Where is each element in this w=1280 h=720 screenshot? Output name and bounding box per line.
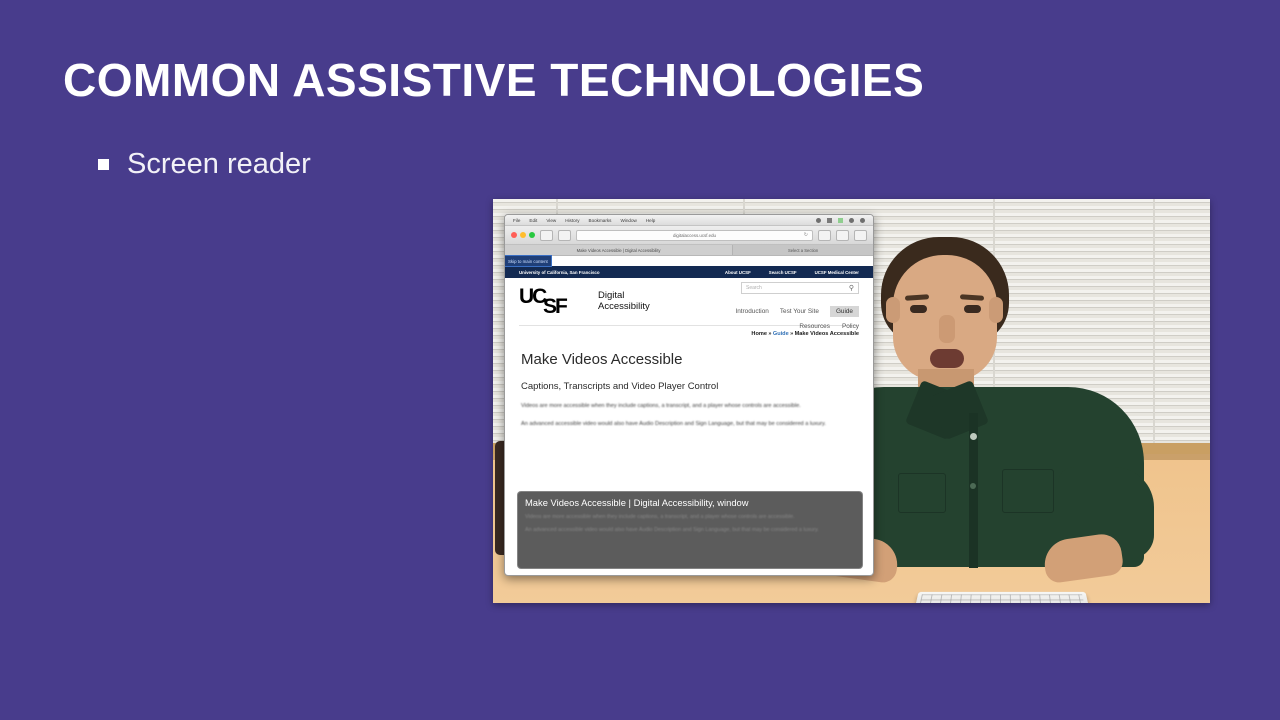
back-icon[interactable] xyxy=(540,230,553,241)
gear-icon[interactable] xyxy=(818,230,831,241)
site-name-line2: Accessibility xyxy=(598,302,650,313)
content-paragraph-1: Videos are more accessible when they inc… xyxy=(521,402,851,412)
ear-right xyxy=(989,297,1003,323)
site-nav-row-1[interactable]: Introduction Test Your Site Guide xyxy=(735,306,859,317)
nav-item-guide[interactable]: Guide xyxy=(830,306,859,317)
shirt-button xyxy=(970,483,976,489)
search-placeholder: Search xyxy=(746,285,762,291)
window-controls[interactable] xyxy=(511,232,535,238)
breadcrumb-guide[interactable]: Guide xyxy=(773,331,789,337)
bullet-item-label: Screen reader xyxy=(127,148,311,181)
close-icon[interactable] xyxy=(511,232,517,238)
site-header: Search ⚲ UC SF Digital Accessibility Int… xyxy=(505,278,873,319)
minimize-icon[interactable] xyxy=(520,232,526,238)
keyboard xyxy=(913,592,1090,603)
nav-item-resources[interactable]: Resources xyxy=(799,323,830,330)
breadcrumb-separator: » xyxy=(768,331,771,337)
voiceover-ghost-text-1: Videos are more accessible when they inc… xyxy=(525,512,855,522)
clock-icon[interactable] xyxy=(849,218,854,223)
menu-item-window[interactable]: Window xyxy=(620,218,636,223)
menu-item-file[interactable]: File xyxy=(513,218,520,223)
shirt-pocket-left xyxy=(898,473,946,513)
nose xyxy=(939,315,955,343)
tabs-icon[interactable] xyxy=(854,230,867,241)
nav-item-introduction[interactable]: Introduction xyxy=(735,308,768,315)
voiceover-ghost-text-2: An advanced accessible video would also … xyxy=(525,525,855,535)
eye-left xyxy=(910,305,927,313)
menu-item-bookmarks[interactable]: Bookmarks xyxy=(589,218,612,223)
browser-window[interactable]: File Edit View History Bookmarks Window … xyxy=(504,214,874,576)
ucsf-link-about[interactable]: About UCSF xyxy=(725,270,751,275)
square-bullet-icon xyxy=(98,159,109,170)
browser-tabbar[interactable]: Make Videos Accessible | Digital Accessi… xyxy=(505,245,873,256)
voiceover-caption-panel: Make Videos Accessible | Digital Accessi… xyxy=(517,491,863,569)
page-content: Make Videos Accessible Captions, Transcr… xyxy=(505,337,873,429)
ucsf-link-medical-center[interactable]: UCSF Medical Center xyxy=(815,270,859,275)
nav-item-test-your-site[interactable]: Test Your Site xyxy=(780,308,819,315)
breadcrumb-current: Make Videos Accessible xyxy=(795,331,859,337)
wifi-icon[interactable] xyxy=(827,218,832,223)
browser-toolbar[interactable]: digitalaccess.ucsf.edu ↻ xyxy=(505,226,873,245)
menu-item-edit[interactable]: Edit xyxy=(529,218,537,223)
site-name: Digital Accessibility xyxy=(598,288,650,312)
tab-make-videos-accessible[interactable]: Make Videos Accessible | Digital Accessi… xyxy=(505,245,733,255)
menu-item-view[interactable]: View xyxy=(546,218,556,223)
skip-link-row: Skip to main content xyxy=(505,256,873,266)
browser-menubar[interactable]: File Edit View History Bookmarks Window … xyxy=(505,215,873,226)
url-text: digitalaccess.ucsf.edu xyxy=(673,233,716,238)
battery-icon[interactable] xyxy=(838,218,843,223)
skip-to-main-content-link[interactable]: Skip to main content xyxy=(505,256,551,266)
shirt-pocket-right xyxy=(1002,469,1054,513)
nav-item-policy[interactable]: Policy xyxy=(842,323,859,330)
breadcrumb-separator: » xyxy=(790,331,793,337)
ucsf-logo-bottom: SF xyxy=(543,298,589,315)
maximize-icon[interactable] xyxy=(529,232,535,238)
ucsf-brand-link[interactable]: University of California, San Francisco xyxy=(519,270,707,275)
blind-cord xyxy=(1153,199,1155,454)
shirt-button xyxy=(970,433,977,440)
ucsf-global-nav[interactable]: University of California, San Francisco … xyxy=(505,266,873,278)
menubar-status-icons[interactable] xyxy=(816,218,865,223)
reload-icon[interactable]: ↻ xyxy=(804,232,808,238)
search-input[interactable]: Search ⚲ xyxy=(741,282,859,294)
mouth xyxy=(930,349,964,368)
slide-root: COMMON ASSISTIVE TECHNOLOGIES Screen rea… xyxy=(0,0,1280,720)
menu-item-history[interactable]: History xyxy=(565,218,579,223)
address-bar[interactable]: digitalaccess.ucsf.edu ↻ xyxy=(576,230,813,241)
page-title: COMMON ASSISTIVE TECHNOLOGIES xyxy=(63,53,924,107)
spotlight-icon[interactable] xyxy=(860,218,865,223)
site-nav-row-2[interactable]: Resources Policy xyxy=(799,323,859,330)
bullet-list-item: Screen reader xyxy=(98,148,311,181)
content-paragraph-2: An advanced accessible video would also … xyxy=(521,420,851,430)
breadcrumb-home[interactable]: Home xyxy=(751,331,767,337)
content-heading: Make Videos Accessible xyxy=(521,351,857,368)
search-icon[interactable]: ⚲ xyxy=(849,284,854,292)
video-player[interactable]: File Edit View History Bookmarks Window … xyxy=(493,199,1210,603)
menu-item-help[interactable]: Help xyxy=(646,218,655,223)
tab-select-a-section[interactable]: Select a Section xyxy=(733,245,873,255)
content-subheading: Captions, Transcripts and Video Player C… xyxy=(521,381,811,394)
ucsf-link-search[interactable]: Search UCSF xyxy=(769,270,797,275)
eye-right xyxy=(964,305,981,313)
share-icon[interactable] xyxy=(836,230,849,241)
ear-left xyxy=(886,297,900,323)
ucsf-logo[interactable]: UC SF xyxy=(519,288,589,315)
sidebar-icon[interactable] xyxy=(558,230,571,241)
voiceover-caption-text: Make Videos Accessible | Digital Accessi… xyxy=(525,497,855,509)
bluetooth-icon[interactable] xyxy=(816,218,821,223)
